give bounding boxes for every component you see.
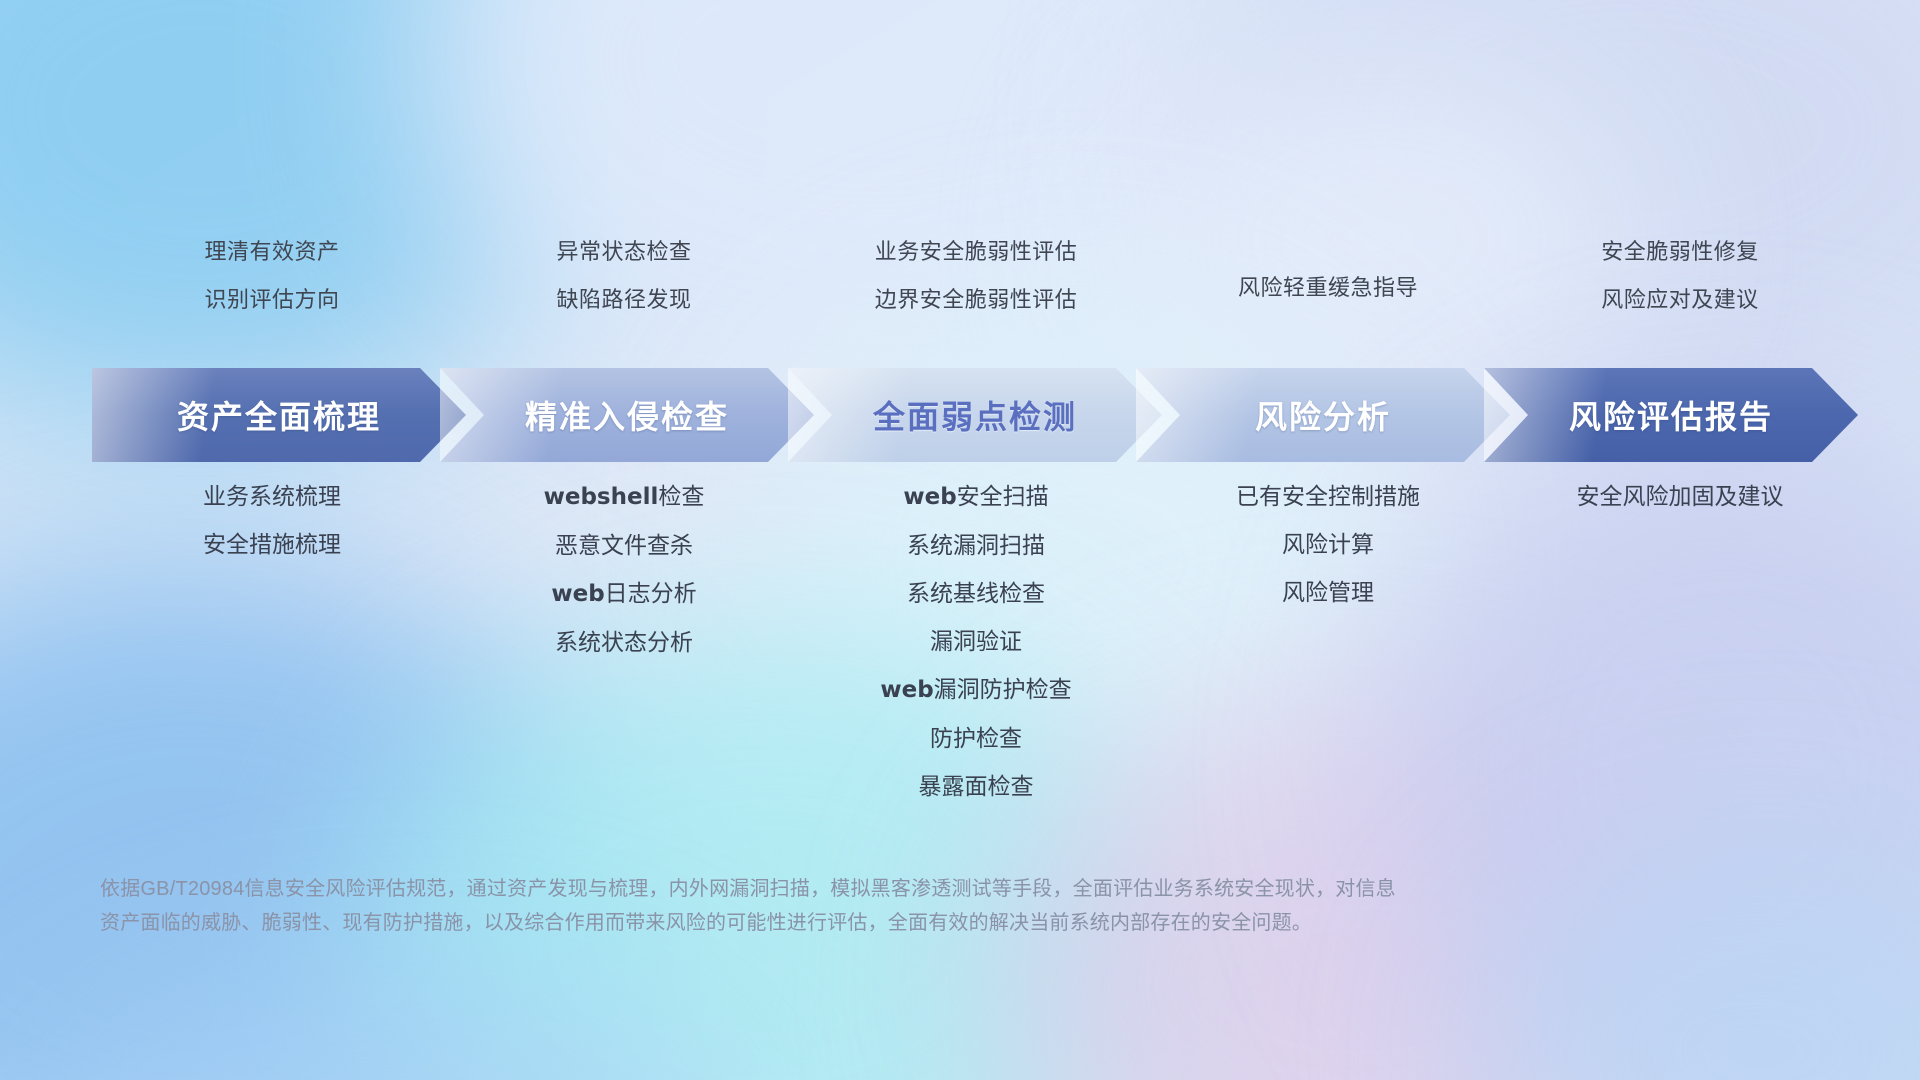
stage-label: 风险评估报告 [1569,392,1773,438]
list-item: 系统状态分析 [448,618,800,666]
list-item: webshell检查 [448,472,800,521]
stage-label: 资产全面梳理 [177,392,381,438]
list-item: 系统漏洞扫描 [800,521,1152,569]
top-note: 业务安全脆弱性评估 [800,228,1152,276]
stage-arrow-2[interactable]: 精准入侵检查 [440,368,814,462]
top-note: 边界安全脆弱性评估 [800,276,1152,324]
bottom-list-stage-4: 已有安全控制措施 风险计算 风险管理 [1152,472,1504,810]
stage-label: 精准入侵检查 [525,392,729,438]
stage-arrow-band: 资产全面梳理 精准入侵检查 全面弱点检测 风险分析 风险评估报告 [92,368,1858,462]
stage-label: 风险分析 [1255,392,1391,438]
top-notes-stage-5: 安全脆弱性修复 风险应对及建议 [1504,228,1856,324]
top-notes-stage-1: 理清有效资产 识别评估方向 [96,228,448,324]
list-item: 防护检查 [800,714,1152,762]
footer-line: 依据GB/T20984信息安全风险评估规范，通过资产发现与梳理，内外网漏洞扫描，… [100,872,1620,906]
process-flow-diagram: 理清有效资产 识别评估方向 异常状态检查 缺陷路径发现 业务安全脆弱性评估 边界… [0,0,1920,1080]
top-note: 识别评估方向 [96,276,448,324]
list-item: 业务系统梳理 [96,472,448,520]
bottom-list-stage-5: 安全风险加固及建议 [1504,472,1856,810]
list-item: web漏洞防护检查 [800,665,1152,714]
stage-label: 全面弱点检测 [873,392,1077,438]
top-notes-stage-3: 业务安全脆弱性评估 边界安全脆弱性评估 [800,228,1152,324]
list-item: 暴露面检查 [800,762,1152,810]
list-item: 安全措施梳理 [96,520,448,568]
bottom-list-stage-3: web安全扫描 系统漏洞扫描 系统基线检查 漏洞验证 web漏洞防护检查 防护检… [800,472,1152,810]
top-notes-row: 理清有效资产 识别评估方向 异常状态检查 缺陷路径发现 业务安全脆弱性评估 边界… [96,228,1856,324]
stage-arrow-3[interactable]: 全面弱点检测 [788,368,1162,462]
bottom-lists-row: 业务系统梳理 安全措施梳理 webshell检查 恶意文件查杀 web日志分析 … [96,472,1856,810]
list-item: 系统基线检查 [800,569,1152,617]
bottom-list-stage-2: webshell检查 恶意文件查杀 web日志分析 系统状态分析 [448,472,800,810]
footer-line: 资产面临的威胁、脆弱性、现有防护措施，以及综合作用而带来风险的可能性进行评估，全… [100,906,1620,940]
list-item: 风险计算 [1152,520,1504,568]
list-item: 恶意文件查杀 [448,521,800,569]
top-notes-stage-4: 风险轻重缓急指导 [1152,228,1504,324]
top-note: 缺陷路径发现 [448,276,800,324]
list-item: web日志分析 [448,569,800,618]
bottom-list-stage-1: 业务系统梳理 安全措施梳理 [96,472,448,810]
top-note: 理清有效资产 [96,228,448,276]
top-note: 风险应对及建议 [1504,276,1856,324]
top-note: 安全脆弱性修复 [1504,228,1856,276]
list-item: 风险管理 [1152,568,1504,616]
footer-description: 依据GB/T20984信息安全风险评估规范，通过资产发现与梳理，内外网漏洞扫描，… [100,872,1620,940]
stage-arrow-4[interactable]: 风险分析 [1136,368,1510,462]
stage-arrow-1[interactable]: 资产全面梳理 [92,368,466,462]
top-notes-stage-2: 异常状态检查 缺陷路径发现 [448,228,800,324]
top-note: 风险轻重缓急指导 [1152,264,1504,312]
top-note: 异常状态检查 [448,228,800,276]
list-item: web安全扫描 [800,472,1152,521]
list-item: 已有安全控制措施 [1152,472,1504,520]
list-item: 安全风险加固及建议 [1504,472,1856,520]
list-item: 漏洞验证 [800,617,1152,665]
stage-arrow-5[interactable]: 风险评估报告 [1484,368,1858,462]
